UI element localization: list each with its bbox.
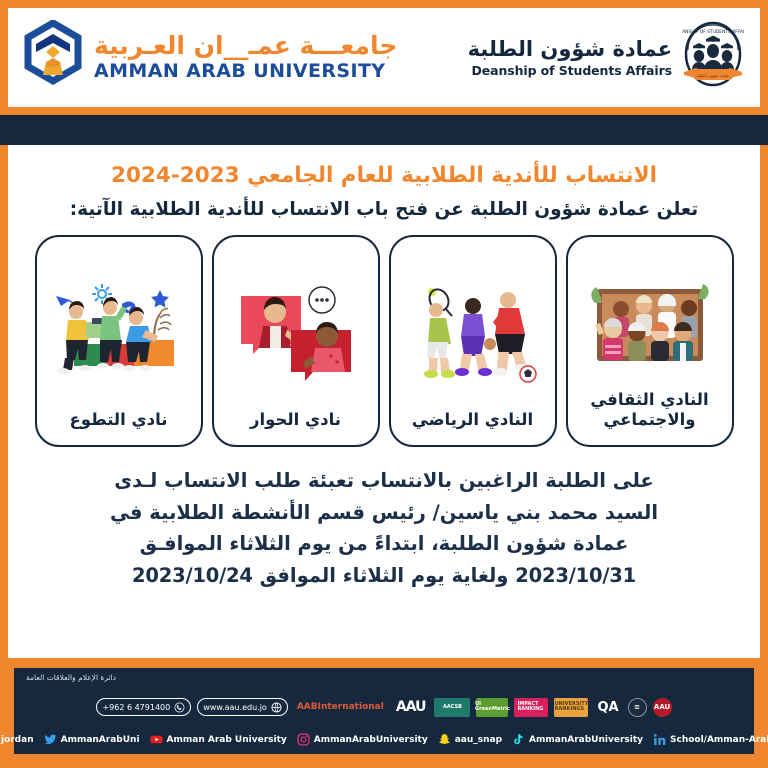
club-card-dialogue[interactable]: نادي الحوار — [212, 235, 380, 447]
globe-icon — [271, 702, 282, 713]
navy-divider — [0, 115, 768, 145]
social-handle: aau_snap — [455, 735, 502, 745]
social-link-linkedin[interactable]: School/Amman-Arab-University — [653, 733, 768, 746]
social-link-snapchat[interactable]: aau_snap — [438, 733, 502, 746]
accreditation-badge: AAU — [653, 698, 672, 717]
deanship-name-arabic: عمادة شؤون الطلبة — [468, 38, 672, 61]
university-brand: جامعـــة عمـ__ان العـربية AMMAN ARAB UNI… — [22, 20, 397, 96]
svg-text:عمادة شؤون الطلبة: عمادة شؤون الطلبة — [697, 73, 730, 78]
aau-hexagon-logo-icon — [22, 20, 84, 96]
website-pill[interactable]: www.aau.edu.jo — [197, 698, 288, 716]
website-label: www.aau.edu.jo — [203, 703, 267, 712]
social-handle: AmmanArabUniversity — [314, 735, 428, 745]
accreditation-badge: IMPACT RANKING — [514, 698, 548, 717]
department-label: دائرة الإعلام والعلاقات العامة — [26, 673, 742, 682]
university-name-arabic: جامعـــة عمـ__ان العـربية — [94, 33, 397, 59]
club-card-volunteer[interactable]: نادي التطوع — [35, 235, 203, 447]
body-line-2: السيد محمد بني ياسين/ رئيس قسم الأنشطة ا… — [110, 497, 658, 529]
social-handle: AmmanArabUni — [61, 735, 140, 745]
announcement-body: على الطلبة الراغبين بالانتساب تعبئة طلب … — [96, 465, 672, 591]
social-link-instagram[interactable]: AmmanArabUniversity — [297, 733, 428, 746]
dialogue-club-art — [220, 249, 372, 410]
social-handle: AmmanArabUniversity — [529, 735, 643, 745]
club-card-sports[interactable]: النادي الرياضي — [389, 235, 557, 447]
social-link-tiktok[interactable]: AmmanArabUniversity — [512, 733, 643, 746]
social-link-twitter[interactable]: AmmanArabUni — [44, 733, 140, 746]
accreditation-logos: AAU ≡ QA UNIVERSITY RANKINGS IMPACT RANK… — [26, 698, 742, 717]
announcement-subtitle: تعلن عمادة شؤون الطلبة عن فتح باب الانتس… — [70, 199, 699, 220]
linkedin-icon — [653, 733, 666, 746]
university-name-english: AMMAN ARAB UNIVERSITY — [94, 62, 397, 82]
body-line-4: 2023/10/31 ولغاية يوم الثلاثاء الموافق 2… — [110, 560, 658, 592]
social-links: aau.edu.jordan AmmanArabUni Amman Arab U… — [26, 733, 742, 748]
accreditation-badge: QA — [594, 698, 621, 717]
phone-pill[interactable]: +962 6 4791400 — [96, 698, 191, 716]
accreditation-badge: AABInternational — [294, 698, 387, 717]
start-date: 2023/10/24 — [132, 560, 253, 592]
social-handle: Amman Arab University — [167, 735, 287, 745]
club-label: نادي التطوع — [70, 410, 168, 437]
club-label: نادي الحوار — [250, 410, 341, 437]
youtube-icon — [150, 733, 163, 746]
deanship-brand: DEANSHIP OF STUDENTS AFFAIRS عمادة شؤون … — [468, 20, 744, 96]
club-label: النادي الرياضي — [412, 410, 533, 437]
body-line-4-text: ولغاية يوم الثلاثاء الموافق — [260, 564, 509, 587]
graduates-badge-icon: DEANSHIP OF STUDENTS AFFAIRS عمادة شؤون … — [682, 20, 744, 96]
tiktok-icon — [512, 733, 525, 746]
social-link-youtube[interactable]: Amman Arab University — [150, 733, 287, 746]
university-text: جامعـــة عمـ__ان العـربية AMMAN ARAB UNI… — [94, 33, 397, 81]
club-card-cultural-social[interactable]: النادي الثقافي والاجتماعي — [566, 235, 734, 447]
instagram-icon — [297, 733, 310, 746]
body-line-3: عمادة شؤون الطلبة، ابتداءً من يوم الثلاث… — [110, 528, 658, 560]
end-date: 2023/10/31 — [515, 560, 636, 592]
accreditation-badge: UNIVERSITY RANKINGS — [554, 698, 588, 717]
accreditation-badge: AACSB — [434, 698, 470, 717]
social-link-facebook[interactable]: aau.edu.jordan — [0, 733, 34, 746]
social-handle: aau.edu.jordan — [0, 735, 34, 745]
accreditation-badge: AAU — [393, 698, 429, 717]
poster: DEANSHIP OF STUDENTS AFFAIRS عمادة شؤون … — [0, 0, 768, 768]
sports-club-art — [397, 249, 549, 410]
body-line-1: على الطلبة الراغبين بالانتساب تعبئة طلب … — [110, 465, 658, 497]
poster-body: الانتساب للأندية الطلابية للعام الجامعي … — [8, 145, 760, 658]
club-label: النادي الثقافي والاجتماعي — [574, 390, 726, 437]
poster-footer: دائرة الإعلام والعلاقات العامة AAU ≡ QA … — [14, 668, 754, 754]
club-cards: النادي الثقافي والاجتماعي — [26, 235, 742, 447]
twitter-icon — [44, 733, 57, 746]
svg-text:DEANSHIP OF STUDENTS AFFAIRS: DEANSHIP OF STUDENTS AFFAIRS — [682, 29, 744, 35]
poster-header: DEANSHIP OF STUDENTS AFFAIRS عمادة شؤون … — [8, 8, 760, 107]
deanship-name-english: Deanship of Students Affairs — [468, 64, 672, 78]
accreditation-badge: UI GreenMetric — [476, 698, 508, 717]
phone-icon — [174, 702, 185, 713]
cultural-social-club-art — [574, 249, 726, 390]
accreditation-badge: ≡ — [628, 698, 647, 717]
deanship-text: عمادة شؤون الطلبة Deanship of Students A… — [468, 38, 672, 78]
volunteer-club-art — [43, 249, 195, 410]
phone-label: +962 6 4791400 — [102, 703, 170, 712]
social-handle: School/Amman-Arab-University — [670, 735, 768, 745]
snapchat-icon — [438, 733, 451, 746]
announcement-title: الانتساب للأندية الطلابية للعام الجامعي … — [111, 163, 657, 188]
